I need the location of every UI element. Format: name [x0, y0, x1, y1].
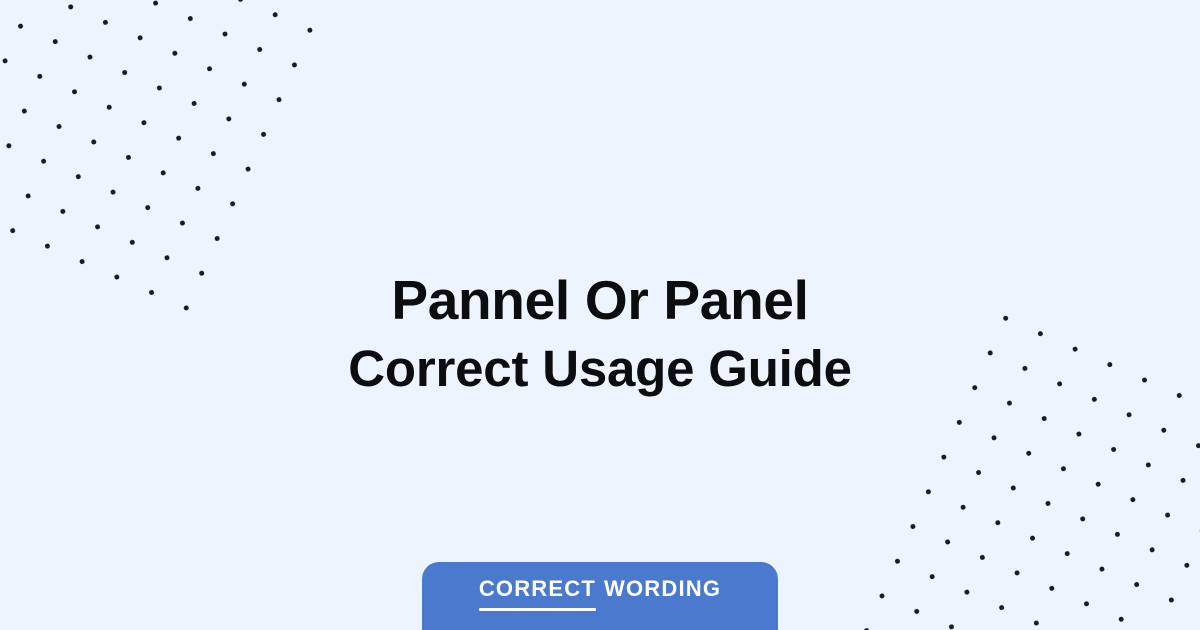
correct-wording-button[interactable]: CORRECTWORDING [422, 562, 778, 630]
promo-card: Pannel Or Panel Correct Usage Guide CORR… [0, 0, 1200, 630]
page-title: Pannel Or Panel [0, 272, 1200, 330]
page-subtitle: Correct Usage Guide [0, 342, 1200, 396]
cta-underline [479, 608, 596, 611]
cta-label-primary: CORRECT [479, 576, 596, 605]
cta-label-secondary: WORDING [604, 576, 721, 602]
cta-label: CORRECTWORDING [422, 576, 778, 605]
